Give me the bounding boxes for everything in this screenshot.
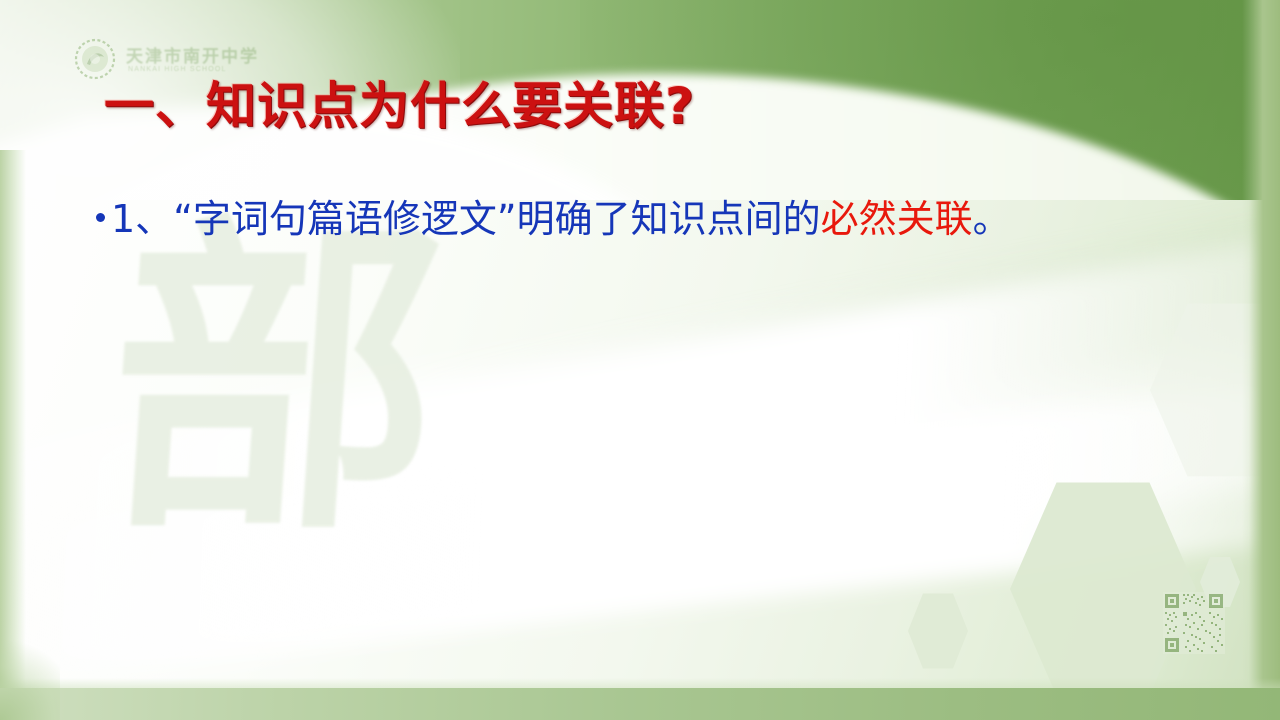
logo-school-name: 天津市南开中学 (126, 42, 259, 67)
bullet-middle-text: 明确了知识点间的 (517, 192, 821, 246)
slide-body: 1、 “字词句篇语修逻文” 明确了知识点间的 必然关联 。 (96, 192, 1216, 246)
bullet-quote-text: “字词句篇语修逻文” (173, 192, 516, 246)
calligraphy-watermark: 部 (98, 215, 452, 555)
bullet-list-item: 1、 “字词句篇语修逻文” 明确了知识点间的 必然关联 。 (96, 192, 1216, 246)
bullet-emphasis-text: 必然关联 (821, 192, 973, 246)
logo-school-subtext: NANKAI HIGH SCHOOL (128, 66, 227, 73)
logo-emblem-icon (74, 38, 116, 80)
bullet-ending-punctuation: 。 (973, 192, 1011, 246)
page-title: 一、知识点为什么要关联? (104, 76, 695, 136)
bullet-dot-icon (96, 213, 105, 222)
qr-code-icon (1163, 592, 1225, 654)
presentation-slide: 部 (0, 0, 1280, 720)
bullet-number: 1、 (111, 192, 173, 246)
slide-bottom-left-corner (0, 630, 60, 720)
slide-right-border (1242, 0, 1280, 720)
slide-bottom-border (0, 688, 1280, 720)
